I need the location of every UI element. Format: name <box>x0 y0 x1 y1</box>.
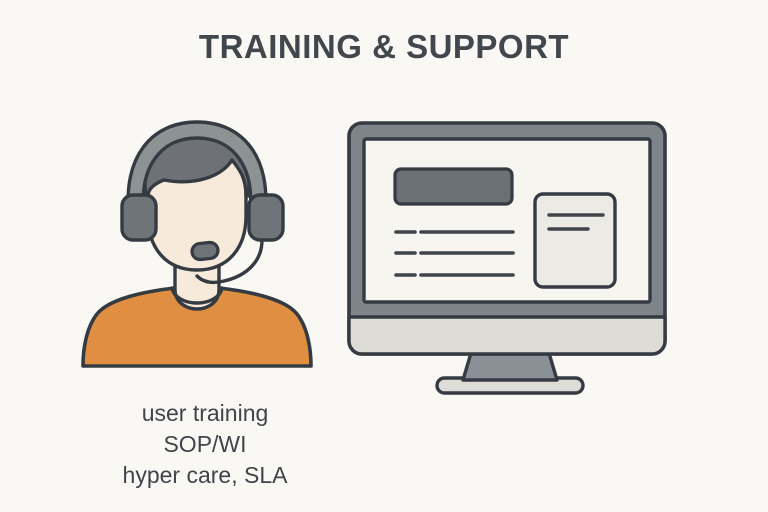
caption-text: user training SOP/WI hyper care, SLA <box>40 398 370 491</box>
illustration-canvas: TRAINING & SUPPORT <box>0 0 768 512</box>
screen-header-block <box>395 169 512 204</box>
monitor-chin <box>349 317 665 354</box>
screen-document-card <box>535 194 615 287</box>
headset-mic-capsule <box>191 242 219 261</box>
document-card-shape <box>535 194 615 287</box>
caption-line-3: hyper care, SLA <box>40 460 370 491</box>
monitor-graphic <box>349 123 665 393</box>
support-agent-graphic <box>83 122 311 366</box>
caption-line-1: user training <box>40 398 370 429</box>
caption-line-2: SOP/WI <box>40 429 370 460</box>
monitor-stand-neck <box>463 353 557 380</box>
headset-earcup-left <box>122 195 156 240</box>
headset-earcup-right <box>249 195 283 240</box>
